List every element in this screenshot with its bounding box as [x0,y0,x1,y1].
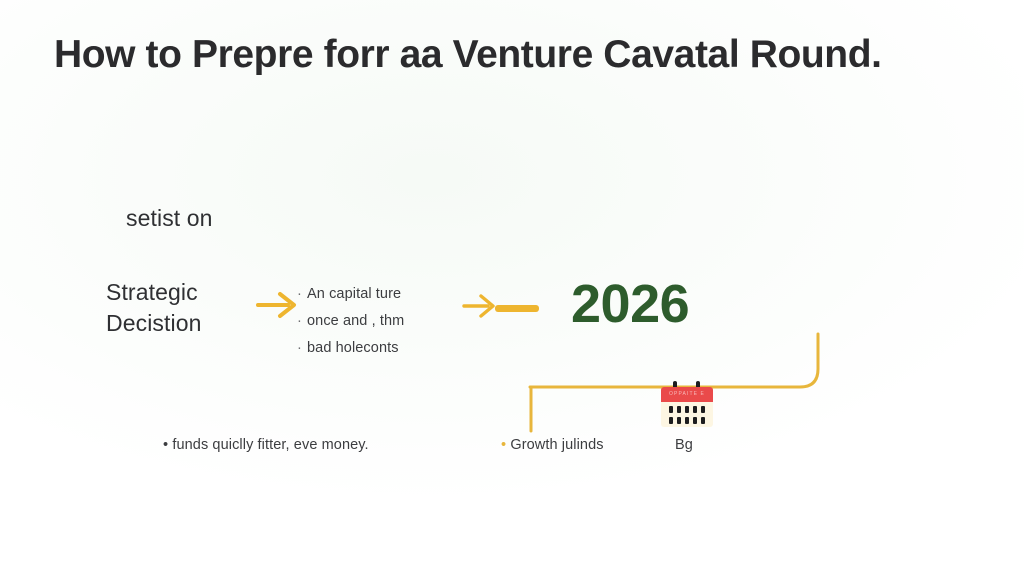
calendar-header: OPPAITE E [661,387,713,402]
calendar-cell [693,417,697,424]
calendar-row [661,406,713,413]
calendar-cell [669,417,673,424]
stage-label-line-2: Decistion [106,308,202,339]
calendar-body [661,402,713,427]
timeline-label-bg: Bg [675,437,693,453]
calendar-cell [677,417,681,424]
bullet-marker: • [163,437,168,453]
list-item-label: An capital ture [307,286,401,302]
list-item: ·once and , thm [297,308,404,335]
year-value: 2026 [571,277,689,331]
bullet-list: ·An capital ture ·once and , thm ·bad ho… [297,281,404,361]
calendar-cell [701,406,705,413]
bullet-marker: · [297,335,307,362]
list-item: ·bad holeconts [297,335,404,362]
calendar-icon: OPPAITE E [661,381,713,427]
calendar-cell [701,417,705,424]
stage-label-line-1: Strategic [106,277,202,308]
page-title: How to Prepre forr aa Venture Cavatal Ro… [54,33,994,78]
dash-mark-icon [495,305,539,312]
calendar-cell [685,417,689,424]
calendar-cell [685,406,689,413]
bullet-marker: · [297,281,307,308]
bullet-marker: • [501,437,506,453]
calendar-row [661,417,713,424]
bottom-note: • funds quiclly fitter, eve money. [163,437,369,453]
calendar-cell [669,406,673,413]
arrow-right-icon [256,288,300,327]
bullet-marker: · [297,308,307,335]
timeline-label-growth-text: Growth julinds [510,437,603,453]
list-item-label: bad holeconts [307,340,399,356]
stage-label: Strategic Decistion [106,277,202,339]
calendar-header-text: OPPAITE E [661,387,713,402]
kicker-text: setist on [126,205,213,232]
slide-canvas: How to Prepre forr aa Venture Cavatal Ro… [0,0,1024,585]
calendar-cell [677,406,681,413]
list-item: ·An capital ture [297,281,404,308]
timeline-label-growth: • Growth julinds [501,437,604,453]
bottom-note-label: funds quiclly fitter, eve money. [172,437,368,453]
list-item-label: once and , thm [307,313,404,329]
calendar-cell [693,406,697,413]
